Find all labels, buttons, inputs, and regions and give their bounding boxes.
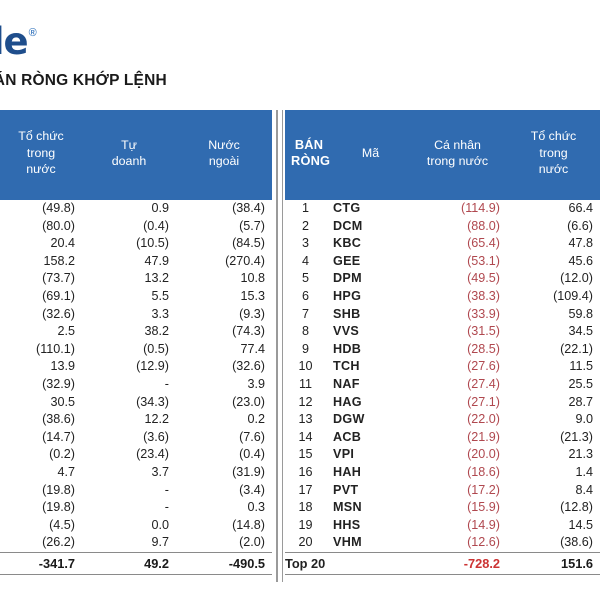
table-row: 25.8(14.7)(3.6)(7.6) xyxy=(0,429,272,447)
sell-cell-ca-nhan: (33.9) xyxy=(408,306,507,324)
table-row: 23.2(19.8)-(3.4) xyxy=(0,482,272,500)
sell-cell-ca-nhan: (14.9) xyxy=(408,517,507,535)
buy-cell-nuoc_ngoai: (23.0) xyxy=(176,394,272,412)
registered-trademark-icon: ® xyxy=(29,26,37,40)
buy-cell-tu_doanh: - xyxy=(82,376,176,394)
buy-cell-tu_doanh: 9.7 xyxy=(82,534,176,552)
sell-cell-symbol: VHM xyxy=(333,534,408,552)
buy-net-table-panel: Cá nhân trong nước Tổ chức trong nước Tự… xyxy=(0,110,272,575)
sell-cell-to-chuc: 9.0 xyxy=(507,411,600,429)
sell-cell-to-chuc: 45.6 xyxy=(507,253,600,271)
buy-cell-nuoc_ngoai: (2.0) xyxy=(176,534,272,552)
buy-cell-nuoc_ngoai: 0.3 xyxy=(176,499,272,517)
sell-cell-rank: 1 xyxy=(285,200,333,218)
table-row: 11NAF(27.4)25.5 xyxy=(285,376,600,394)
table-row: 49.6(73.7)13.210.8 xyxy=(0,270,272,288)
sell-cell-to-chuc: (12.0) xyxy=(507,270,600,288)
buy-cell-nuoc_ngoai: (0.4) xyxy=(176,446,272,464)
buy-cell-to_chuc: 30.5 xyxy=(0,394,82,412)
sell-cell-rank: 5 xyxy=(285,270,333,288)
sell-cell-ca-nhan: (53.1) xyxy=(408,253,507,271)
buy-cell-to_chuc: (110.1) xyxy=(0,341,82,359)
sell-cell-symbol: KBC xyxy=(333,235,408,253)
sell-cell-symbol: HPG xyxy=(333,288,408,306)
buy-col-label-line2: Tổ chức trong nước xyxy=(18,129,63,176)
sell-cell-symbol: MSN xyxy=(333,499,408,517)
table-row: 24.1(0.2)(23.4)(0.4) xyxy=(0,446,272,464)
table-row: 17PVT(17.2)8.4 xyxy=(285,482,600,500)
sell-cell-to-chuc: (109.4) xyxy=(507,288,600,306)
table-row: 16HAH(18.6)1.4 xyxy=(285,464,600,482)
buy-net-table: Cá nhân trong nước Tổ chức trong nước Tự… xyxy=(0,110,272,575)
sell-cell-rank: 10 xyxy=(285,358,333,376)
sell-cell-to-chuc: 25.5 xyxy=(507,376,600,394)
buy-cell-tu_doanh: (0.5) xyxy=(82,341,176,359)
buy-cell-nuoc_ngoai: (3.4) xyxy=(176,482,272,500)
buy-total-tu-doanh: 49.2 xyxy=(82,552,176,574)
table-row: 12HAG(27.1)28.7 xyxy=(285,394,600,412)
table-row: 33.62.538.2(74.3) xyxy=(0,323,272,341)
sell-cell-symbol: VPI xyxy=(333,446,408,464)
brand-logo: ade ® xyxy=(0,22,37,62)
sell-table-footer: Top 20 -728.2 151.6 xyxy=(285,552,600,574)
sell-cell-symbol: HHS xyxy=(333,517,408,535)
buy-table-header-row: Cá nhân trong nước Tổ chức trong nước Tự… xyxy=(0,110,272,200)
buy-table-header: Cá nhân trong nước Tổ chức trong nước Tự… xyxy=(0,110,272,200)
table-row: 1CTG(114.9)66.4 xyxy=(285,200,600,218)
sell-cell-ca-nhan: (31.5) xyxy=(408,323,507,341)
table-divider xyxy=(276,110,278,582)
table-row: 19.6(19.8)-0.3 xyxy=(0,499,272,517)
sell-cell-to-chuc: (22.1) xyxy=(507,341,600,359)
buy-cell-tu_doanh: 47.9 xyxy=(82,253,176,271)
buy-cell-to_chuc: 13.9 xyxy=(0,358,82,376)
buy-cell-nuoc_ngoai: (74.3) xyxy=(176,323,272,341)
buy-cell-nuoc_ngoai: 15.3 xyxy=(176,288,272,306)
buy-table-footer: 783.1 -341.7 49.2 -490.5 xyxy=(0,552,272,574)
buy-cell-to_chuc: (32.9) xyxy=(0,376,82,394)
table-row: 38.6(32.6)3.3(9.3) xyxy=(0,306,272,324)
buy-cell-nuoc_ngoai: (14.8) xyxy=(176,517,272,535)
sell-col-label-ma: Mã xyxy=(362,146,379,160)
buy-cell-to_chuc: 2.5 xyxy=(0,323,82,341)
sell-cell-symbol: HDB xyxy=(333,341,408,359)
sell-cell-to-chuc: 14.5 xyxy=(507,517,600,535)
sell-cell-rank: 15 xyxy=(285,446,333,464)
sell-cell-symbol: DCM xyxy=(333,218,408,236)
sell-cell-to-chuc: 47.8 xyxy=(507,235,600,253)
buy-cell-tu_doanh: (10.5) xyxy=(82,235,176,253)
buy-cell-nuoc_ngoai: 0.2 xyxy=(176,411,272,429)
sell-cell-to-chuc: 34.5 xyxy=(507,323,600,341)
buy-total-nuoc-ngoai: -490.5 xyxy=(176,552,272,574)
buy-cell-tu_doanh: (3.6) xyxy=(82,429,176,447)
sell-cell-rank: 12 xyxy=(285,394,333,412)
buy-col-label-line3: Tự doanh xyxy=(112,138,146,169)
sell-cell-symbol: DPM xyxy=(333,270,408,288)
sell-cell-rank: 19 xyxy=(285,517,333,535)
table-row: 64.3158.247.9(270.4) xyxy=(0,253,272,271)
sell-cell-rank: 11 xyxy=(285,376,333,394)
buy-cell-tu_doanh: 12.2 xyxy=(82,411,176,429)
sell-table-header-row: BÁN RÒNG Mã Cá nhân trong nước Tổ chức t… xyxy=(285,110,600,200)
buy-cell-nuoc_ngoai: (270.4) xyxy=(176,253,272,271)
sell-cell-rank: 7 xyxy=(285,306,333,324)
buy-cell-nuoc_ngoai: (5.7) xyxy=(176,218,272,236)
buy-cell-to_chuc: (14.7) xyxy=(0,429,82,447)
buy-cell-to_chuc: 20.4 xyxy=(0,235,82,253)
table-row: 3KBC(65.4)47.8 xyxy=(285,235,600,253)
buy-cell-to_chuc: (19.8) xyxy=(0,499,82,517)
sell-cell-to-chuc: 11.5 xyxy=(507,358,600,376)
buy-cell-tu_doanh: - xyxy=(82,499,176,517)
buy-cell-nuoc_ngoai: (32.6) xyxy=(176,358,272,376)
sell-col-header-ca-nhan-trong-nuoc: Cá nhân trong nước xyxy=(408,110,507,200)
sell-total-ca-nhan: -728.2 xyxy=(408,552,507,574)
sell-col-label-ca-nhan: Cá nhân trong nước xyxy=(427,138,488,169)
table-row: 5DPM(49.5)(12.0) xyxy=(285,270,600,288)
sell-cell-ca-nhan: (27.6) xyxy=(408,358,507,376)
sell-cell-ca-nhan: (49.5) xyxy=(408,270,507,288)
sell-cell-ca-nhan: (20.0) xyxy=(408,446,507,464)
brand-logo-text: ade xyxy=(0,22,28,62)
buy-cell-nuoc_ngoai: (31.9) xyxy=(176,464,272,482)
buy-cell-to_chuc: (80.0) xyxy=(0,218,82,236)
sell-cell-rank: 9 xyxy=(285,341,333,359)
buy-cell-nuoc_ngoai: 10.8 xyxy=(176,270,272,288)
table-row: 48.4(69.1)5.515.3 xyxy=(0,288,272,306)
sell-cell-symbol: ACB xyxy=(333,429,408,447)
buy-cell-to_chuc: (49.8) xyxy=(0,200,82,218)
sell-cell-symbol: HAG xyxy=(333,394,408,412)
table-row: 13DGW(22.0)9.0 xyxy=(285,411,600,429)
buy-table-body: 87.3(49.8)0.9(38.4)86.1(80.0)(0.4)(5.7)7… xyxy=(0,200,272,552)
buy-cell-to_chuc: (4.5) xyxy=(0,517,82,535)
sell-col-label-to-chuc: Tổ chức trong nước xyxy=(531,129,576,176)
sell-cell-symbol: HAH xyxy=(333,464,408,482)
buy-cell-nuoc_ngoai: (7.6) xyxy=(176,429,272,447)
sell-cell-to-chuc: 66.4 xyxy=(507,200,600,218)
table-row: 23.64.73.7(31.9) xyxy=(0,464,272,482)
buy-cell-tu_doanh: 38.2 xyxy=(82,323,176,341)
sell-total-row: Top 20 -728.2 151.6 xyxy=(285,552,600,574)
buy-col-header-nuoc-ngoai: Nước ngoài xyxy=(176,110,272,200)
sell-cell-symbol: CTG xyxy=(333,200,408,218)
sell-cell-to-chuc: (12.8) xyxy=(507,499,600,517)
sell-net-table-panel: BÁN RÒNG Mã Cá nhân trong nước Tổ chức t… xyxy=(285,110,600,575)
sell-cell-ca-nhan: (28.5) xyxy=(408,341,507,359)
sell-table-header: BÁN RÒNG Mã Cá nhân trong nước Tổ chức t… xyxy=(285,110,600,200)
buy-cell-nuoc_ngoai: 3.9 xyxy=(176,376,272,394)
sell-cell-ca-nhan: (65.4) xyxy=(408,235,507,253)
sell-cell-rank: 17 xyxy=(285,482,333,500)
buy-total-to-chuc: -341.7 xyxy=(0,552,82,574)
table-row: 8VVS(31.5)34.5 xyxy=(285,323,600,341)
sell-cell-rank: 8 xyxy=(285,323,333,341)
buy-cell-to_chuc: (19.8) xyxy=(0,482,82,500)
sell-cell-ca-nhan: (22.0) xyxy=(408,411,507,429)
table-divider-secondary xyxy=(282,110,284,582)
buy-cell-tu_doanh: 3.3 xyxy=(82,306,176,324)
buy-cell-to_chuc: (26.2) xyxy=(0,534,82,552)
buy-cell-tu_doanh: 0.9 xyxy=(82,200,176,218)
sell-cell-rank: 13 xyxy=(285,411,333,429)
sell-total-label: Top 20 xyxy=(285,552,408,574)
sell-net-table: BÁN RÒNG Mã Cá nhân trong nước Tổ chức t… xyxy=(285,110,600,575)
table-row: 86.1(80.0)(0.4)(5.7) xyxy=(0,218,272,236)
sell-cell-to-chuc: 21.3 xyxy=(507,446,600,464)
sell-cell-ca-nhan: (27.4) xyxy=(408,376,507,394)
sell-cell-symbol: DGW xyxy=(333,411,408,429)
sell-cell-ca-nhan: (17.2) xyxy=(408,482,507,500)
table-row: 31.713.9(12.9)(32.6) xyxy=(0,358,272,376)
buy-cell-tu_doanh: 5.5 xyxy=(82,288,176,306)
table-row: 29.0(32.9)-3.9 xyxy=(0,376,272,394)
sell-cell-ca-nhan: (21.9) xyxy=(408,429,507,447)
table-row: 19HHS(14.9)14.5 xyxy=(285,517,600,535)
buy-cell-to_chuc: (69.1) xyxy=(0,288,82,306)
sell-table-body: 1CTG(114.9)66.42DCM(88.0)(6.6)3KBC(65.4)… xyxy=(285,200,600,552)
table-row: 9HDB(28.5)(22.1) xyxy=(285,341,600,359)
sell-cell-symbol: VVS xyxy=(333,323,408,341)
sell-cell-rank: 18 xyxy=(285,499,333,517)
table-row: 26.830.5(34.3)(23.0) xyxy=(0,394,272,412)
table-row: 6HPG(38.3)(109.4) xyxy=(285,288,600,306)
table-row: 19.3(4.5)0.0(14.8) xyxy=(0,517,272,535)
buy-cell-to_chuc: (0.2) xyxy=(0,446,82,464)
buy-cell-to_chuc: (73.7) xyxy=(0,270,82,288)
buy-cell-tu_doanh: (23.4) xyxy=(82,446,176,464)
sell-col-header-to-chuc-trong-nuoc: Tổ chức trong nước xyxy=(507,110,600,200)
sell-cell-to-chuc: (6.6) xyxy=(507,218,600,236)
sell-cell-to-chuc: 59.8 xyxy=(507,306,600,324)
table-row: 74.520.4(10.5)(84.5) xyxy=(0,235,272,253)
buy-cell-tu_doanh: (0.4) xyxy=(82,218,176,236)
sell-cell-to-chuc: 1.4 xyxy=(507,464,600,482)
sell-cell-rank: 16 xyxy=(285,464,333,482)
table-row: 7SHB(33.9)59.8 xyxy=(285,306,600,324)
buy-col-header-to-chuc-trong-nuoc: Tổ chức trong nước xyxy=(0,110,82,200)
buy-total-row: 783.1 -341.7 49.2 -490.5 xyxy=(0,552,272,574)
buy-cell-to_chuc: (38.6) xyxy=(0,411,82,429)
buy-cell-to_chuc: 158.2 xyxy=(0,253,82,271)
buy-cell-nuoc_ngoai: (38.4) xyxy=(176,200,272,218)
sell-cell-rank: 20 xyxy=(285,534,333,552)
table-row: 4GEE(53.1)45.6 xyxy=(285,253,600,271)
buy-cell-to_chuc: 4.7 xyxy=(0,464,82,482)
table-row: 87.3(49.8)0.9(38.4) xyxy=(0,200,272,218)
buy-cell-to_chuc: (32.6) xyxy=(0,306,82,324)
sell-cell-to-chuc: 28.7 xyxy=(507,394,600,412)
buy-cell-tu_doanh: 0.0 xyxy=(82,517,176,535)
sell-cell-ca-nhan: (114.9) xyxy=(408,200,507,218)
sell-cell-symbol: SHB xyxy=(333,306,408,324)
sell-cell-symbol: TCH xyxy=(333,358,408,376)
sell-cell-ca-nhan: (15.9) xyxy=(408,499,507,517)
sell-cell-to-chuc: (21.3) xyxy=(507,429,600,447)
sell-cell-symbol: PVT xyxy=(333,482,408,500)
buy-cell-nuoc_ngoai: (84.5) xyxy=(176,235,272,253)
sell-cell-rank: 6 xyxy=(285,288,333,306)
page-title: MUA/BÁN RÒNG KHỚP LỆNH xyxy=(0,72,167,90)
table-row: 15VPI(20.0)21.3 xyxy=(285,446,600,464)
sell-col-header-ban-rong: BÁN RÒNG xyxy=(285,110,333,200)
buy-col-label-line4: Nước ngoài xyxy=(208,138,240,169)
buy-cell-nuoc_ngoai: 77.4 xyxy=(176,341,272,359)
table-row: 18.5(26.2)9.7(2.0) xyxy=(0,534,272,552)
sell-cell-to-chuc: (38.6) xyxy=(507,534,600,552)
sell-cell-symbol: GEE xyxy=(333,253,408,271)
table-row: 14ACB(21.9)(21.3) xyxy=(285,429,600,447)
table-row: 20VHM(12.6)(38.6) xyxy=(285,534,600,552)
sell-cell-ca-nhan: (27.1) xyxy=(408,394,507,412)
buy-cell-tu_doanh: 13.2 xyxy=(82,270,176,288)
sell-col-header-ma: Mã xyxy=(333,110,408,200)
buy-cell-nuoc_ngoai: (9.3) xyxy=(176,306,272,324)
sell-cell-rank: 2 xyxy=(285,218,333,236)
table-row: 18MSN(15.9)(12.8) xyxy=(285,499,600,517)
buy-cell-tu_doanh: 3.7 xyxy=(82,464,176,482)
sell-cell-rank: 3 xyxy=(285,235,333,253)
table-row: 26.2(38.6)12.20.2 xyxy=(0,411,272,429)
sell-cell-ca-nhan: (18.6) xyxy=(408,464,507,482)
buy-cell-tu_doanh: - xyxy=(82,482,176,500)
sell-cell-ca-nhan: (88.0) xyxy=(408,218,507,236)
table-row: 10TCH(27.6)11.5 xyxy=(285,358,600,376)
sell-title-label: BÁN RÒNG xyxy=(291,137,330,169)
sell-cell-rank: 14 xyxy=(285,429,333,447)
sell-cell-symbol: NAF xyxy=(333,376,408,394)
buy-cell-tu_doanh: (34.3) xyxy=(82,394,176,412)
table-row: 2DCM(88.0)(6.6) xyxy=(285,218,600,236)
table-row: 33.1(110.1)(0.5)77.4 xyxy=(0,341,272,359)
sell-cell-to-chuc: 8.4 xyxy=(507,482,600,500)
buy-cell-tu_doanh: (12.9) xyxy=(82,358,176,376)
buy-col-header-tu-doanh: Tự doanh xyxy=(82,110,176,200)
sell-total-to-chuc: 151.6 xyxy=(507,552,600,574)
sell-cell-ca-nhan: (38.3) xyxy=(408,288,507,306)
sell-cell-rank: 4 xyxy=(285,253,333,271)
sell-cell-ca-nhan: (12.6) xyxy=(408,534,507,552)
